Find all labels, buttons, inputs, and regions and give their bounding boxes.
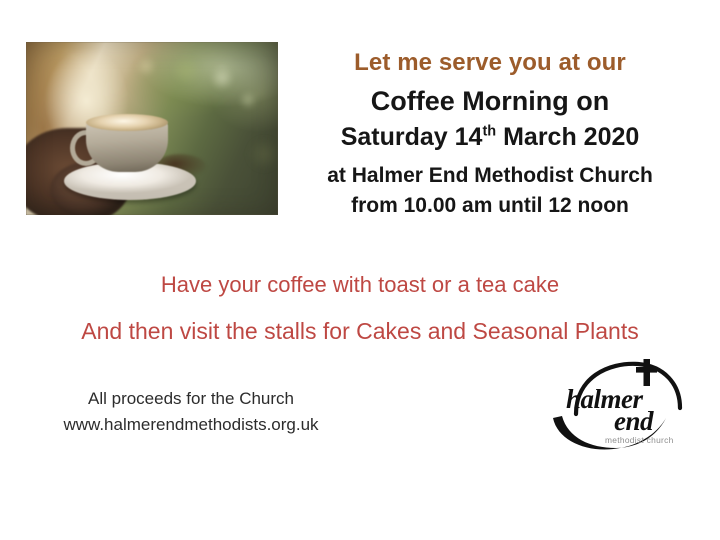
coffee-morning-poster: Let me serve you at our Coffee Morning o…	[0, 0, 720, 540]
coffee-cup-photo	[26, 42, 278, 215]
footer-block: All proceeds for the Church www.halmeren…	[26, 386, 356, 438]
proceeds-note: All proceeds for the Church	[26, 386, 356, 412]
offers-block: Have your coffee with toast or a tea cak…	[0, 272, 720, 346]
photo-vignette	[26, 42, 278, 215]
event-time: from 10.00 am until 12 noon	[290, 191, 690, 221]
headline-block: Let me serve you at our Coffee Morning o…	[290, 48, 690, 221]
logo-word-end: end	[614, 406, 654, 436]
offer-line-2: And then visit the stalls for Cakes and …	[0, 318, 720, 346]
event-date-suffix: March 2020	[496, 123, 639, 151]
offer-line-1: Have your coffee with toast or a tea cak…	[0, 272, 720, 298]
event-date: Saturday 14th March 2020	[290, 121, 690, 155]
website-url[interactable]: www.halmerendmethodists.org.uk	[26, 412, 356, 438]
event-date-prefix: Saturday 14	[341, 123, 483, 151]
event-date-ordinal: th	[482, 124, 496, 140]
event-venue: at Halmer End Methodist Church	[290, 161, 690, 191]
logo-tagline: methodist church	[605, 435, 674, 445]
event-title: Coffee Morning on	[290, 83, 690, 119]
halmer-end-church-logo: halmer end methodist church	[546, 358, 694, 450]
invitation-line: Let me serve you at our	[290, 48, 690, 79]
